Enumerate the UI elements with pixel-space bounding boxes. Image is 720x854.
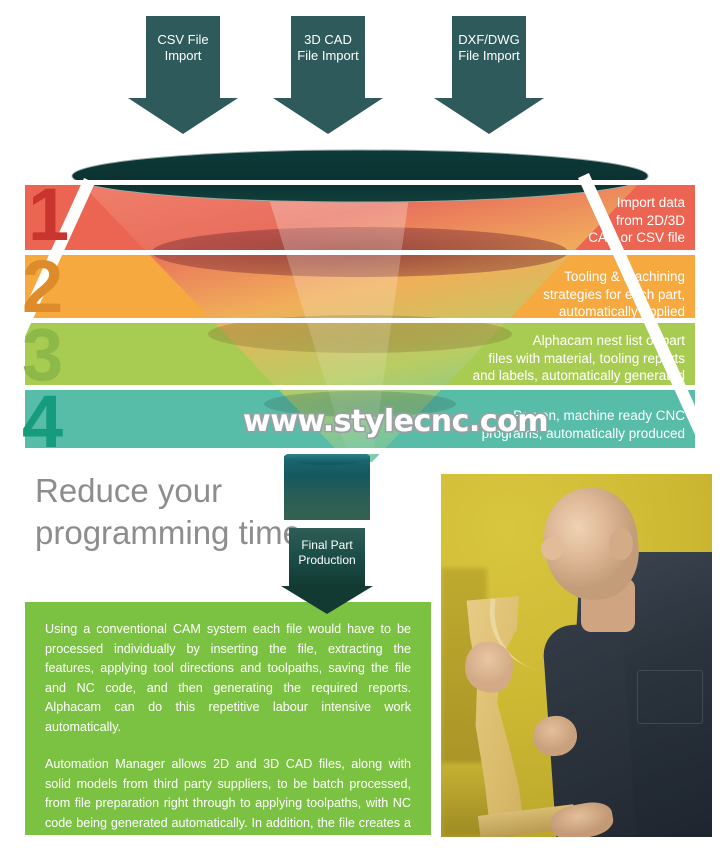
infographic-canvas: CSV File Import 3D CAD File Import DXF/D… (0, 0, 720, 854)
description-box: Using a conventional CAM system each fil… (25, 602, 431, 835)
step-number-4: 4 (22, 385, 61, 459)
band-separator-1 (25, 250, 695, 255)
step-3-line-3: and labels, automatically generated (345, 367, 685, 385)
import-arrow-csv-label: CSV File Import (128, 32, 238, 64)
label-line-1: CSV File (128, 32, 238, 48)
label-line-2: File Import (434, 48, 544, 64)
label-line-2: Production (281, 553, 373, 568)
band-separator-2 (25, 318, 695, 323)
band-separator-top (25, 180, 695, 185)
label-line-2: File Import (273, 48, 383, 64)
step-3-text: Alphacam nest list or part files with ma… (345, 332, 685, 385)
step-1-line-3: CAD or CSV file (385, 229, 685, 247)
worker-photo (441, 474, 712, 837)
label-line-2: Import (128, 48, 238, 64)
step-1-line-1: Import data (385, 194, 685, 212)
description-paragraph-2: Automation Manager allows 2D and 3D CAD … (45, 755, 411, 853)
step-1-line-2: from 2D/3D (385, 212, 685, 230)
arrow-head-icon (273, 98, 383, 134)
arrow-head-icon (281, 586, 373, 614)
step-2-line-1: Tooling & machining (385, 268, 685, 286)
worker-ear (609, 528, 633, 560)
description-paragraph-1: Using a conventional CAM system each fil… (45, 620, 411, 737)
arrow-head-icon (434, 98, 544, 134)
worker-pocket (637, 670, 703, 724)
step-3-line-1: Alphacam nest list or part (345, 332, 685, 350)
band-separator-bottom (25, 448, 695, 454)
step-number-1: 1 (28, 178, 67, 252)
step-band-2: Tooling & machining strategies for each … (25, 255, 695, 318)
arrow-head-icon (128, 98, 238, 134)
import-arrow-dxf-dwg-label: DXF/DWG File Import (434, 32, 544, 64)
import-arrow-3d-cad-label: 3D CAD File Import (273, 32, 383, 64)
import-arrow-3d-cad: 3D CAD File Import (273, 16, 383, 134)
step-3-line-2: files with material, tooling reports (345, 350, 685, 368)
import-arrow-dxf-dwg: DXF/DWG File Import (434, 16, 544, 134)
label-line-1: Final Part (281, 538, 373, 553)
step-band-3: Alphacam nest list or part files with ma… (25, 323, 695, 385)
label-line-1: DXF/DWG (434, 32, 544, 48)
import-arrow-csv: CSV File Import (128, 16, 238, 134)
final-part-production-arrow: Final Part Production (281, 528, 373, 614)
watermark: www.stylecnc.com (243, 404, 548, 439)
step-1-text: Import data from 2D/3D CAD or CSV file (385, 194, 685, 247)
final-part-production-label: Final Part Production (281, 538, 373, 568)
label-line-1: 3D CAD (273, 32, 383, 48)
band-separator-3 (25, 385, 695, 390)
